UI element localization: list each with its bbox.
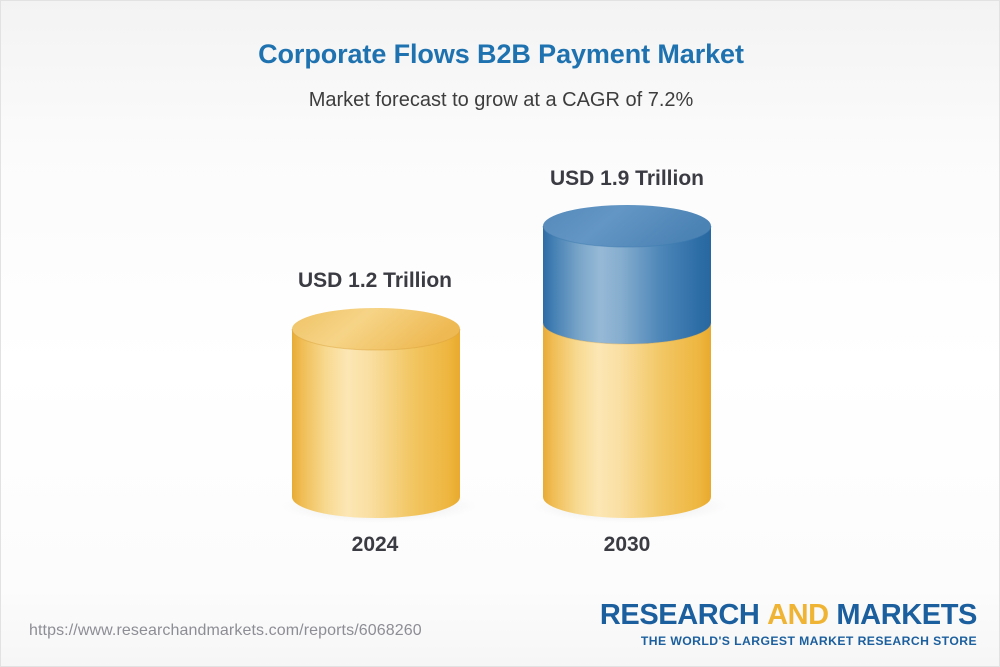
logo-word-markets: MARKETS (836, 599, 977, 631)
logo-tagline: THE WORLD'S LARGEST MARKET RESEARCH STOR… (600, 635, 977, 647)
chart-canvas: Corporate Flows B2B Payment Market Marke… (0, 0, 1000, 667)
bar-cylinder-2030[interactable] (543, 205, 711, 518)
logo-word-research: RESEARCH (600, 599, 760, 631)
cylinder-body-2030-base (543, 323, 711, 518)
value-label-2024: USD 1.2 Trillion (267, 269, 483, 293)
cylinder-chart-plot (1, 1, 1000, 601)
cylinder-body-2024-base (292, 329, 460, 518)
value-label-2030: USD 1.9 Trillion (519, 167, 735, 191)
logo-wordmark: RESEARCH AND MARKETS (600, 601, 977, 630)
logo-word-and: AND (767, 599, 829, 631)
research-and-markets-logo[interactable]: RESEARCH AND MARKETS THE WORLD'S LARGEST… (600, 601, 977, 647)
category-label-2024: 2024 (267, 533, 483, 557)
bar-cylinder-2024[interactable] (292, 308, 460, 518)
report-url[interactable]: https://www.researchandmarkets.com/repor… (29, 622, 422, 640)
category-label-2030: 2030 (519, 533, 735, 557)
